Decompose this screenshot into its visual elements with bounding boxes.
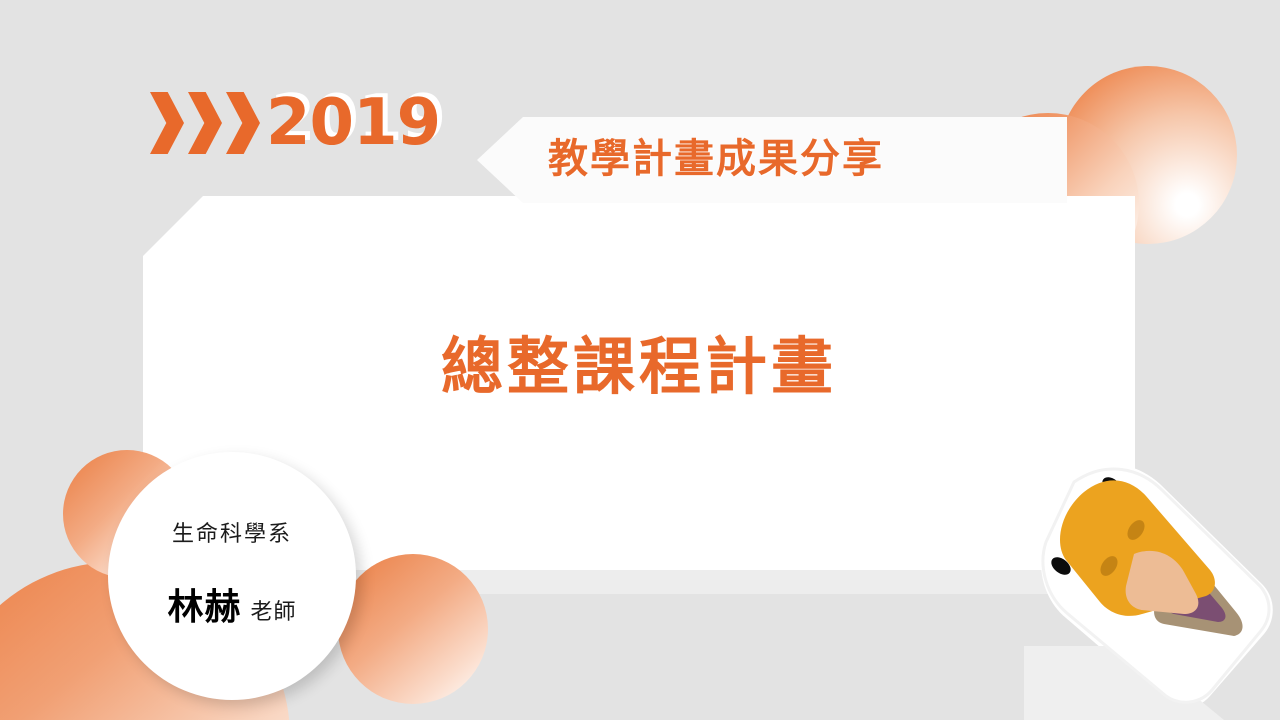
year-block: 2019 — [150, 88, 440, 158]
chevron-right-icon — [226, 92, 260, 154]
chevron-right-icon — [188, 92, 222, 154]
speaker-name: 林赫 — [167, 588, 241, 628]
page-title: 總整課程計畫 — [143, 330, 1135, 404]
section-banner-title: 教學計畫成果分享 — [548, 133, 968, 185]
year-text: 2019 — [266, 91, 440, 155]
duck-head-illustration — [1014, 462, 1280, 720]
speaker-role: 老師 — [251, 593, 297, 633]
speaker-department: 生命科學系 — [172, 520, 292, 550]
speaker-badge: 生命科學系 林赫 老師 — [108, 452, 356, 700]
presentation-slide: 教學計畫成果分享 2019 總整課程計畫 生命科學系 林赫 老師 — [0, 0, 1280, 720]
chevron-group — [150, 92, 260, 154]
speaker-name-row: 林赫 老師 — [167, 588, 296, 633]
chevron-right-icon — [150, 92, 184, 154]
